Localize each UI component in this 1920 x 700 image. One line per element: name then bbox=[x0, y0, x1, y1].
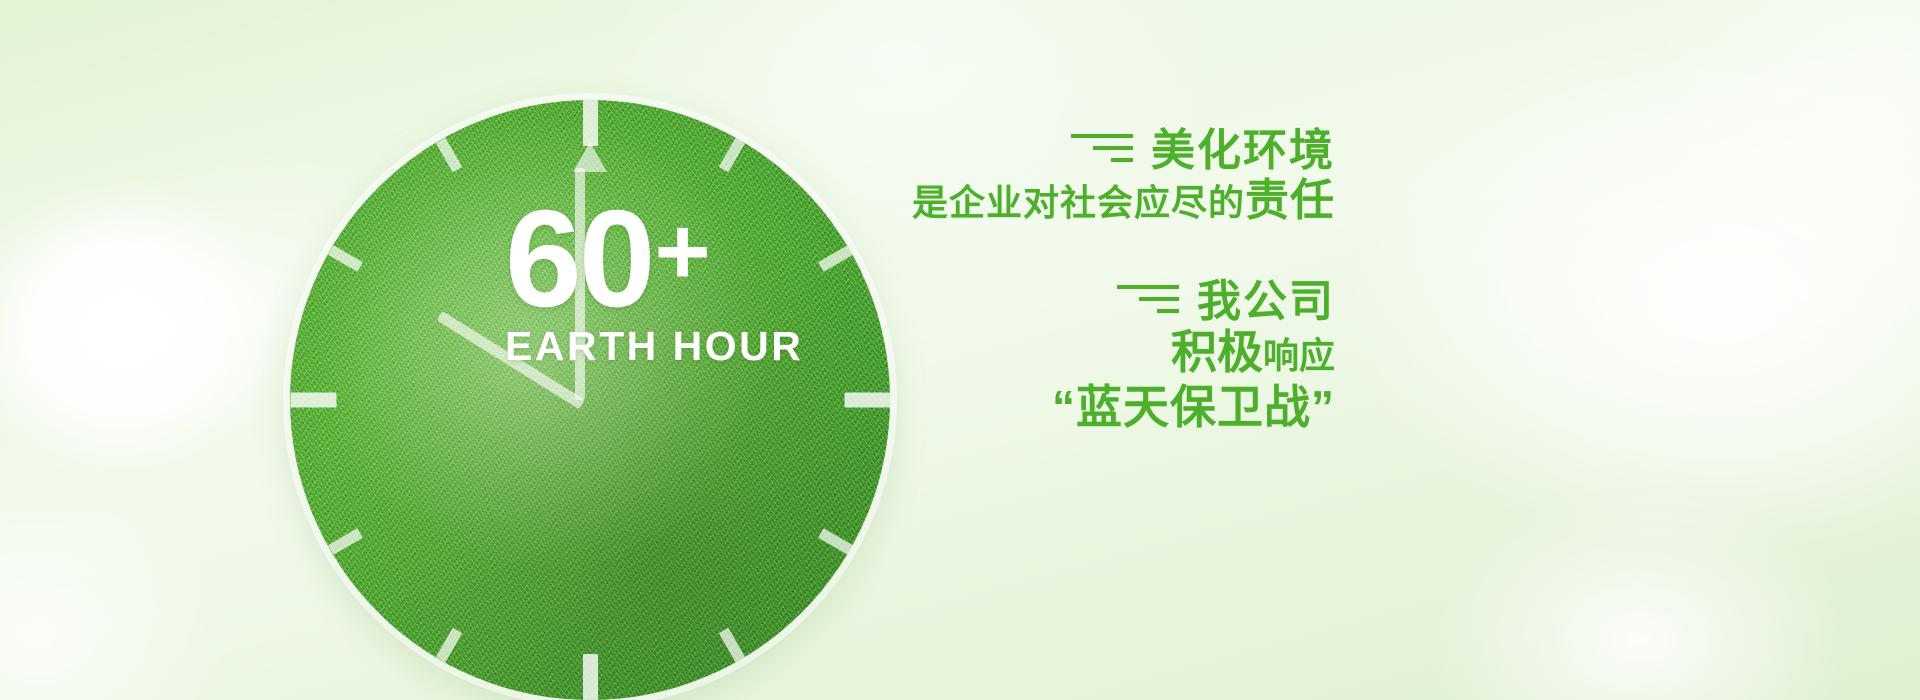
slogan-headline-row-2: 我公司 bbox=[905, 279, 1335, 326]
slogan-1-subline-a: 是企业对社会应尽的 bbox=[912, 182, 1245, 223]
slogan-1-subline: 是企业对社会应尽的责任 bbox=[905, 175, 1335, 227]
slogan-1-subline-b: 责任 bbox=[1245, 176, 1335, 225]
clock-tick bbox=[327, 245, 362, 272]
earth-hour-banner: 60+ EARTH HOUR 美化环境 是企业对社会应尽的责任 我公司 积极响应 bbox=[0, 0, 1920, 700]
slogan-headline-row: 美化环境 bbox=[905, 128, 1335, 175]
clock-tick bbox=[583, 100, 598, 146]
slogan-copy: 美化环境 是企业对社会应尽的责任 我公司 积极响应 “蓝天保卫战” bbox=[905, 128, 1335, 436]
dash-lines-icon bbox=[1117, 285, 1179, 319]
clock-face-grass: 60+ EARTH HOUR bbox=[290, 100, 890, 700]
slogan-2-headline: 我公司 bbox=[1197, 279, 1335, 326]
clock-hand-arrow-icon bbox=[573, 142, 607, 172]
clock-tick bbox=[290, 393, 336, 408]
clock-tick bbox=[818, 528, 853, 555]
slogan-2-line-a-big: 积极 bbox=[1171, 326, 1263, 378]
clock-tick bbox=[818, 245, 853, 272]
clock-tick bbox=[718, 628, 745, 663]
clock-minute-hand bbox=[575, 168, 585, 400]
slogan-2-line-b: “蓝天保卫战” bbox=[905, 380, 1335, 435]
slogan-1-headline: 美化环境 bbox=[1151, 128, 1335, 175]
clock-tick-ring bbox=[290, 100, 890, 700]
slogan-2-line-a: 积极响应 bbox=[905, 325, 1335, 380]
slogan-block-1: 美化环境 是企业对社会应尽的责任 bbox=[905, 128, 1335, 227]
clock-tick bbox=[327, 528, 362, 555]
dash-lines-icon bbox=[1071, 134, 1133, 168]
earth-hour-clock: 60+ EARTH HOUR bbox=[290, 100, 890, 700]
slogan-2-line-a-small: 响应 bbox=[1263, 335, 1335, 376]
clock-tick bbox=[844, 393, 890, 408]
clock-tick bbox=[435, 137, 462, 172]
clock-tick bbox=[583, 654, 598, 700]
clock-tick bbox=[718, 137, 745, 172]
slogan-block-2: 我公司 积极响应 “蓝天保卫战” bbox=[905, 279, 1335, 436]
clock-tick bbox=[435, 628, 462, 663]
